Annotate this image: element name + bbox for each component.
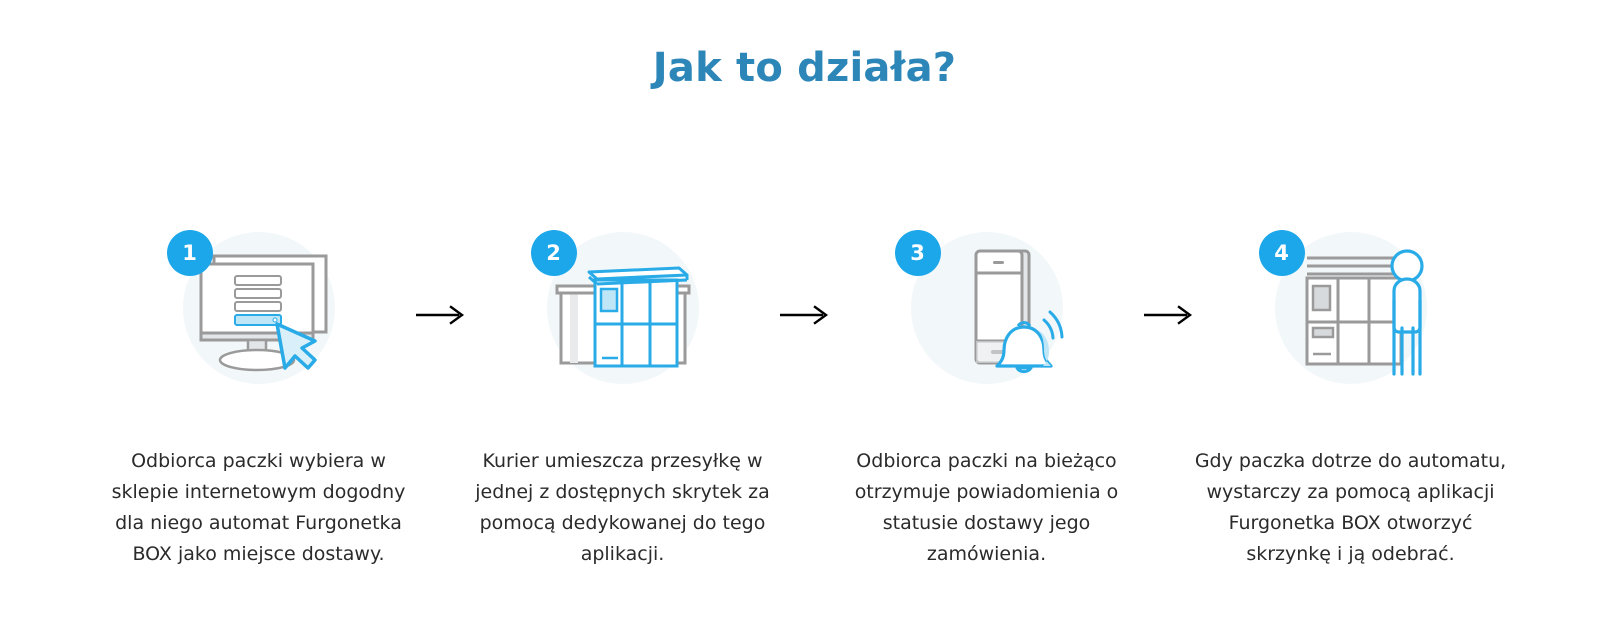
step-3-text: Odbiorca paczki na bieżąco otrzymuje pow… <box>827 446 1147 570</box>
step-4-text: Gdy paczka dotrze do automatu, wystarczy… <box>1191 446 1511 570</box>
step-2-badge: 2 <box>531 230 577 276</box>
step-1: 1 Odbiorca paczki wybiera w sklepie inte… <box>103 228 415 570</box>
arrow-right-icon <box>415 304 467 326</box>
arrow-right-icon <box>779 304 831 326</box>
step-4-icon-stage: 4 <box>1251 228 1451 398</box>
step-1-badge: 1 <box>167 230 213 276</box>
step-1-icon-stage: 1 <box>159 228 359 398</box>
arrow-right-icon <box>1143 304 1195 326</box>
steps-row: 1 Odbiorca paczki wybiera w sklepie inte… <box>0 228 1609 570</box>
arrow-step-3-to-4 <box>1143 304 1195 326</box>
step-2-text: Kurier umieszcza przesyłkę w jednej z do… <box>463 446 783 570</box>
arrow-step-1-to-2 <box>415 304 467 326</box>
step-3-icon-stage: 3 <box>887 228 1087 398</box>
step-2-icon-stage: 2 <box>523 228 723 398</box>
step-3: 3 Odbiorca paczki na bieżąco otrzymuje p… <box>831 228 1143 570</box>
step-4: 4 Gdy paczka dotrze do automatu, wystarc… <box>1195 228 1507 570</box>
step-1-text: Odbiorca paczki wybiera w sklepie intern… <box>99 446 419 570</box>
arrow-step-2-to-3 <box>779 304 831 326</box>
step-3-badge: 3 <box>895 230 941 276</box>
step-4-badge: 4 <box>1259 230 1305 276</box>
page-title: Jak to działa? <box>0 0 1609 92</box>
step-2: 2 Kurier umieszcza przesyłkę w jednej z … <box>467 228 779 570</box>
